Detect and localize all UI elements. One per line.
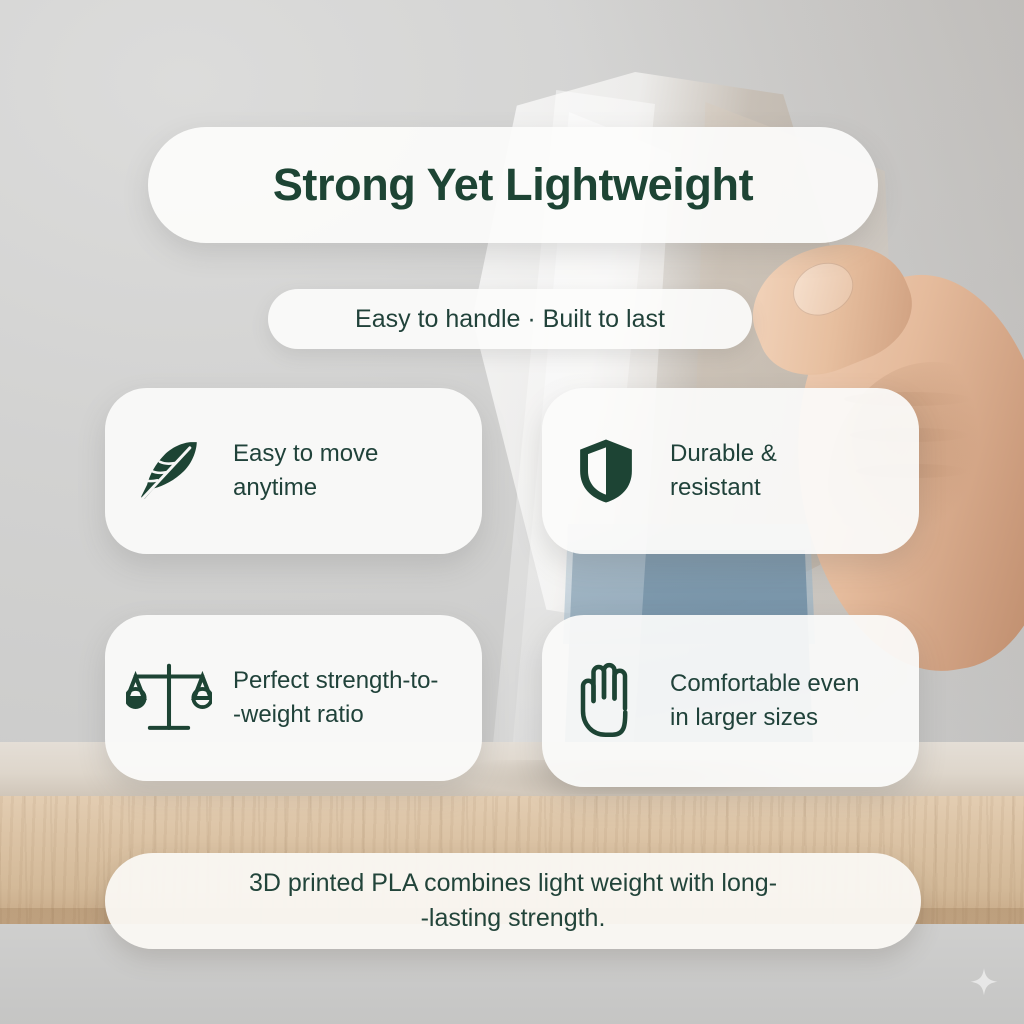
page-subtitle: Easy to handle · Built to last	[355, 305, 665, 334]
feature-label: Perfect strength-to- -weight ratio	[233, 664, 482, 732]
footer-pill: 3D printed PLA combines light weight wit…	[105, 853, 921, 949]
overlay-ui: Strong Yet Lightweight Easy to handle · …	[0, 0, 1024, 1024]
feature-card-strength-to-weight[interactable]: Perfect strength-to- -weight ratio	[105, 615, 482, 781]
feature-card-comfortable[interactable]: Comfortable even in larger sizes	[542, 615, 919, 787]
footer-text: 3D printed PLA combines light weight wit…	[249, 866, 777, 936]
header-pill: Strong Yet Lightweight	[148, 127, 878, 243]
sparkle-icon	[966, 966, 1002, 1002]
feature-label: Durable & resistant	[670, 437, 777, 505]
shield-icon	[542, 435, 670, 507]
feature-card-durable[interactable]: Durable & resistant	[542, 388, 919, 554]
page-title: Strong Yet Lightweight	[273, 159, 753, 211]
feature-label: Easy to move anytime	[233, 437, 378, 505]
feature-label: Comfortable even in larger sizes	[670, 667, 919, 735]
open-hand-icon	[542, 661, 670, 741]
feather-icon	[105, 434, 233, 508]
subheader-pill: Easy to handle · Built to last	[268, 289, 752, 349]
balance-scale-icon	[105, 659, 233, 737]
feature-card-easy-to-move[interactable]: Easy to move anytime	[105, 388, 482, 554]
